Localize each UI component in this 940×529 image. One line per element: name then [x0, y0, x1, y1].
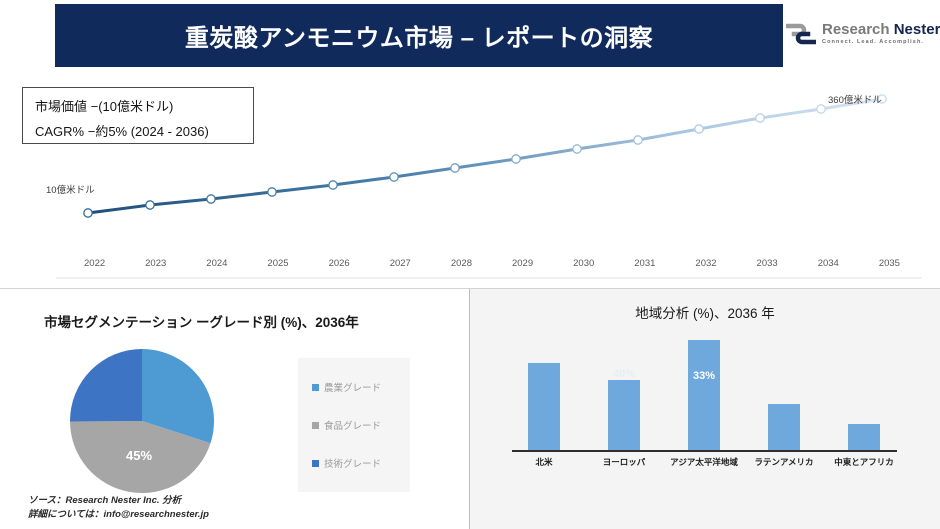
legend-item-food[interactable]: 食品グレード — [312, 418, 410, 432]
logo-tagline: Connect. Lead. Accomplish. — [822, 40, 940, 46]
bar-north-america — [528, 363, 560, 450]
legend-swatch-icon — [312, 422, 319, 429]
bar-column-asia-pacific: 33% — [665, 340, 743, 450]
legend-label: 技術グレード — [324, 456, 381, 470]
line-chart-x-axis: 2022 2023 2024 2025 2026 2027 2028 2029 … — [64, 258, 920, 274]
source-line-2: 詳細については：info@researchnester.jp — [28, 508, 209, 522]
x-tick: 2029 — [492, 258, 553, 274]
logo-name-research: Research — [822, 21, 890, 38]
x-tick: 2025 — [247, 258, 308, 274]
segmentation-legend: 農業グレード 食品グレード 技術グレード — [298, 358, 410, 492]
segmentation-title: 市場セグメンテーション ーグレード別 (%)、2036年 — [44, 311, 359, 331]
source-line-1: ソース：Research Nester Inc. 分析 — [28, 494, 209, 508]
bar-label-latin-america: ラテンアメリカ — [745, 456, 823, 468]
x-tick: 2026 — [309, 258, 370, 274]
x-tick: 2033 — [737, 258, 798, 274]
bar-column-europe: 40% — [585, 340, 663, 450]
source-note: ソース：Research Nester Inc. 分析 詳細については：info… — [28, 494, 209, 522]
cagr-line: CAGR% −約5% (2024 - 2036) — [35, 119, 243, 144]
bar-chart-x-labels: 北米 ヨーロッパ アジア太平洋地域 ラテンアメリカ 中東とアフリカ — [504, 456, 904, 468]
bar-latin-america — [768, 404, 800, 450]
pie-slice-technical — [70, 349, 142, 422]
page-title: 重炭酸アンモニウム市場 – レポートの洞察 — [185, 18, 653, 53]
market-value-info-box: 市場価値 −(10億米ドル) CAGR% −約5% (2024 - 2036) — [22, 87, 254, 144]
bar-data-label-europe: 40% — [585, 368, 663, 380]
bar-asia-pacific — [688, 340, 720, 450]
bar-column-north-america — [505, 340, 583, 450]
legend-label: 食品グレード — [324, 418, 381, 432]
x-tick: 2027 — [370, 258, 431, 274]
bar-europe — [608, 380, 640, 450]
x-tick: 2024 — [186, 258, 247, 274]
bar-label-middle-east-africa: 中東とアフリカ — [825, 456, 903, 468]
pie-data-label: 45% — [126, 448, 152, 463]
legend-swatch-icon — [312, 384, 319, 391]
x-tick: 2022 — [64, 258, 125, 274]
legend-item-agricultural[interactable]: 農業グレード — [312, 380, 410, 394]
legend-label: 農業グレード — [324, 380, 381, 394]
market-value-line: 市場価値 −(10億米ドル) — [35, 94, 243, 119]
line-start-value-label: 10億米ドル — [46, 182, 95, 196]
bar-column-middle-east-africa — [825, 340, 903, 450]
bar-column-latin-america — [745, 340, 823, 450]
logo-text: Research Nester Connect. Lead. Accomplis… — [822, 22, 940, 46]
interlocking-links-icon — [786, 21, 816, 47]
bar-label-north-america: 北米 — [505, 456, 583, 468]
bar-middle-east-africa — [848, 424, 880, 450]
x-tick: 2032 — [675, 258, 736, 274]
regional-analysis-title: 地域分析 (%)、2036 年 — [470, 302, 940, 322]
legend-item-technical[interactable]: 技術グレード — [312, 456, 410, 470]
x-tick: 2030 — [553, 258, 614, 274]
research-nester-logo: Research Nester Connect. Lead. Accomplis… — [786, 14, 936, 54]
bar-data-label-asia-pacific: 33% — [665, 370, 743, 382]
x-tick: 2028 — [431, 258, 492, 274]
x-tick: 2023 — [125, 258, 186, 274]
line-end-value-label: 360億米ドル — [828, 92, 882, 106]
x-tick: 2031 — [614, 258, 675, 274]
regional-bar-chart: 40% 33% — [504, 340, 904, 450]
header-banner: 重炭酸アンモニウム市場 – レポートの洞察 — [55, 4, 783, 67]
x-tick: 2035 — [859, 258, 920, 274]
logo-name: Research Nester — [822, 22, 940, 37]
legend-swatch-icon — [312, 460, 319, 467]
bar-label-asia-pacific: アジア太平洋地域 — [665, 456, 743, 468]
logo-name-nester: Nester — [894, 21, 940, 38]
x-tick: 2034 — [798, 258, 859, 274]
pie-svg — [66, 347, 218, 495]
vertical-divider — [469, 289, 470, 529]
bar-label-europe: ヨーロッパ — [585, 456, 663, 468]
bar-chart-axis-line — [512, 450, 897, 452]
segmentation-pie-chart — [66, 347, 218, 495]
